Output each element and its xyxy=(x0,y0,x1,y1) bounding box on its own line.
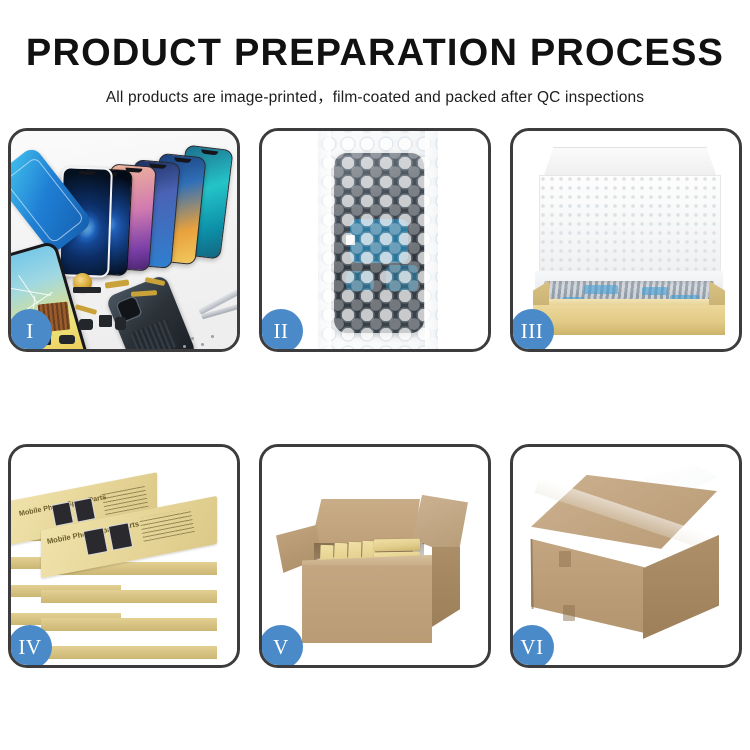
wrap-edge xyxy=(425,131,438,349)
box-side xyxy=(41,590,217,603)
label-patch xyxy=(386,265,418,291)
step-panel-2[interactable]: II xyxy=(259,128,491,352)
step-badge-1: I xyxy=(8,309,52,352)
label-patch xyxy=(346,271,374,291)
retail-box xyxy=(41,583,217,601)
step-panel-1[interactable]: I xyxy=(8,128,240,352)
step-badge-2: II xyxy=(259,309,303,352)
notch-icon xyxy=(174,157,191,163)
step-badge-5: V xyxy=(259,625,303,668)
chip-part xyxy=(73,287,101,293)
box-side xyxy=(41,618,217,631)
carton-front-panel xyxy=(302,565,432,643)
chip-part xyxy=(115,317,126,330)
screw-part xyxy=(201,343,204,346)
box-product-image xyxy=(108,522,133,551)
step-panel-4[interactable]: Mobile Phone Spare Parts Mobile Phone Sp… xyxy=(8,444,240,668)
carton-hand-hole xyxy=(559,551,571,567)
notch-icon xyxy=(200,149,217,155)
screw-part xyxy=(211,335,214,338)
step-panel-6[interactable]: VI xyxy=(510,444,742,668)
chip-part xyxy=(59,335,75,344)
box-side xyxy=(41,646,217,659)
chip-part xyxy=(99,315,112,327)
label-patch xyxy=(584,285,618,294)
notch-icon xyxy=(79,170,96,175)
screw-part xyxy=(191,337,194,340)
white-tag xyxy=(346,235,355,245)
step-badge-4: IV xyxy=(8,625,52,668)
step-panel-5[interactable]: V xyxy=(259,444,491,668)
step-badge-6: VI xyxy=(510,625,554,668)
carton-hand-hole xyxy=(563,605,575,621)
step-badge-3: III xyxy=(510,309,554,352)
label-patch xyxy=(642,287,668,295)
chip-part xyxy=(79,319,93,330)
foam-texture xyxy=(539,175,719,285)
screw-part xyxy=(183,345,186,348)
process-grid: I II xyxy=(0,128,750,668)
wrap-edge xyxy=(318,131,331,349)
box-lid-flap xyxy=(543,147,717,178)
retail-box-in-carton xyxy=(374,538,420,551)
retail-box xyxy=(41,611,217,629)
box-product-image xyxy=(83,527,108,556)
page-title: PRODUCT PREPARATION PROCESS xyxy=(0,34,750,74)
box-front-panel xyxy=(533,305,725,335)
wrapped-phone-screen xyxy=(334,153,424,333)
page-subtitle: All products are image-printed，film-coat… xyxy=(0,85,750,107)
header: PRODUCT PREPARATION PROCESS All products… xyxy=(0,0,750,107)
retail-box xyxy=(41,639,217,657)
label-patch xyxy=(350,219,408,263)
step-panel-3[interactable]: III xyxy=(510,128,742,352)
